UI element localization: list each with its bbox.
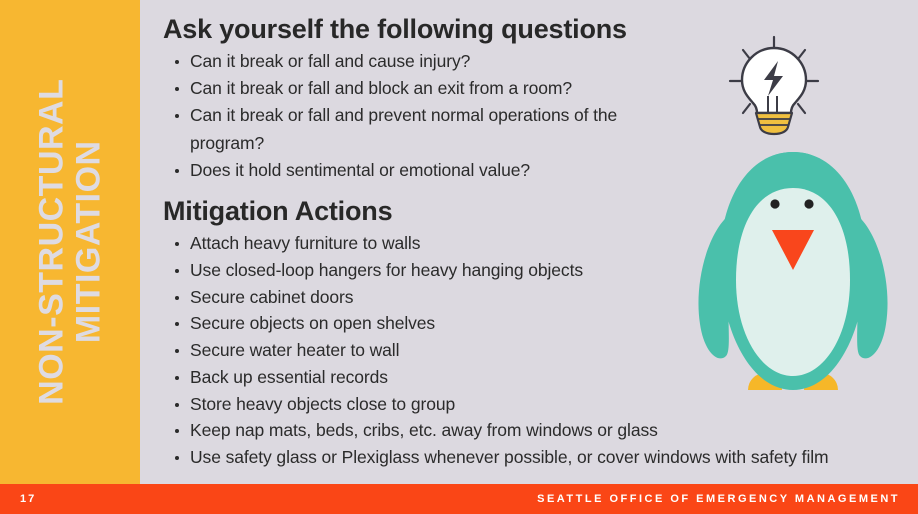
sidebar-title: NON-STRUCTURAL MITIGATION: [33, 79, 106, 405]
list-item: Use safety glass or Plexiglass whenever …: [163, 444, 903, 471]
list-item: Use closed-loop hangers for heavy hangin…: [163, 257, 903, 284]
sidebar-panel: NON-STRUCTURAL MITIGATION: [0, 0, 140, 484]
footer-bar: 17 SEATTLE OFFICE OF EMERGENCY MANAGEMEN…: [0, 484, 918, 514]
mitigation-actions-heading: Mitigation Actions: [163, 196, 903, 226]
list-item: Back up essential records: [163, 364, 903, 391]
list-item: Can it break or fall and block an exit f…: [163, 75, 903, 102]
list-item: Secure cabinet doors: [163, 284, 903, 311]
list-item: Store heavy objects close to group: [163, 391, 903, 418]
slide-root: NON-STRUCTURAL MITIGATION Ask yourself t…: [0, 0, 918, 514]
list-item: Secure objects on open shelves: [163, 310, 903, 337]
sidebar-title-line1: NON-STRUCTURAL: [32, 79, 70, 405]
list-item: Does it hold sentimental or emotional va…: [163, 157, 903, 184]
questions-list: Can it break or fall and cause injury? C…: [163, 48, 903, 184]
questions-heading: Ask yourself the following questions: [163, 14, 903, 44]
mitigation-actions-list: Attach heavy furniture to walls Use clos…: [163, 230, 903, 471]
list-item: Can it break or fall and prevent normal …: [163, 102, 690, 156]
organization-name: SEATTLE OFFICE OF EMERGENCY MANAGEMENT: [537, 493, 900, 505]
list-item: Keep nap mats, beds, cribs, etc. away fr…: [163, 417, 903, 444]
content-area: Ask yourself the following questions Can…: [163, 14, 903, 471]
page-number: 17: [20, 493, 36, 505]
sidebar-title-line2: MITIGATION: [70, 79, 107, 405]
list-item: Secure water heater to wall: [163, 337, 903, 364]
sidebar-title-wrap: NON-STRUCTURAL MITIGATION: [0, 0, 140, 484]
list-item: Can it break or fall and cause injury?: [163, 48, 903, 75]
list-item: Attach heavy furniture to walls: [163, 230, 903, 257]
